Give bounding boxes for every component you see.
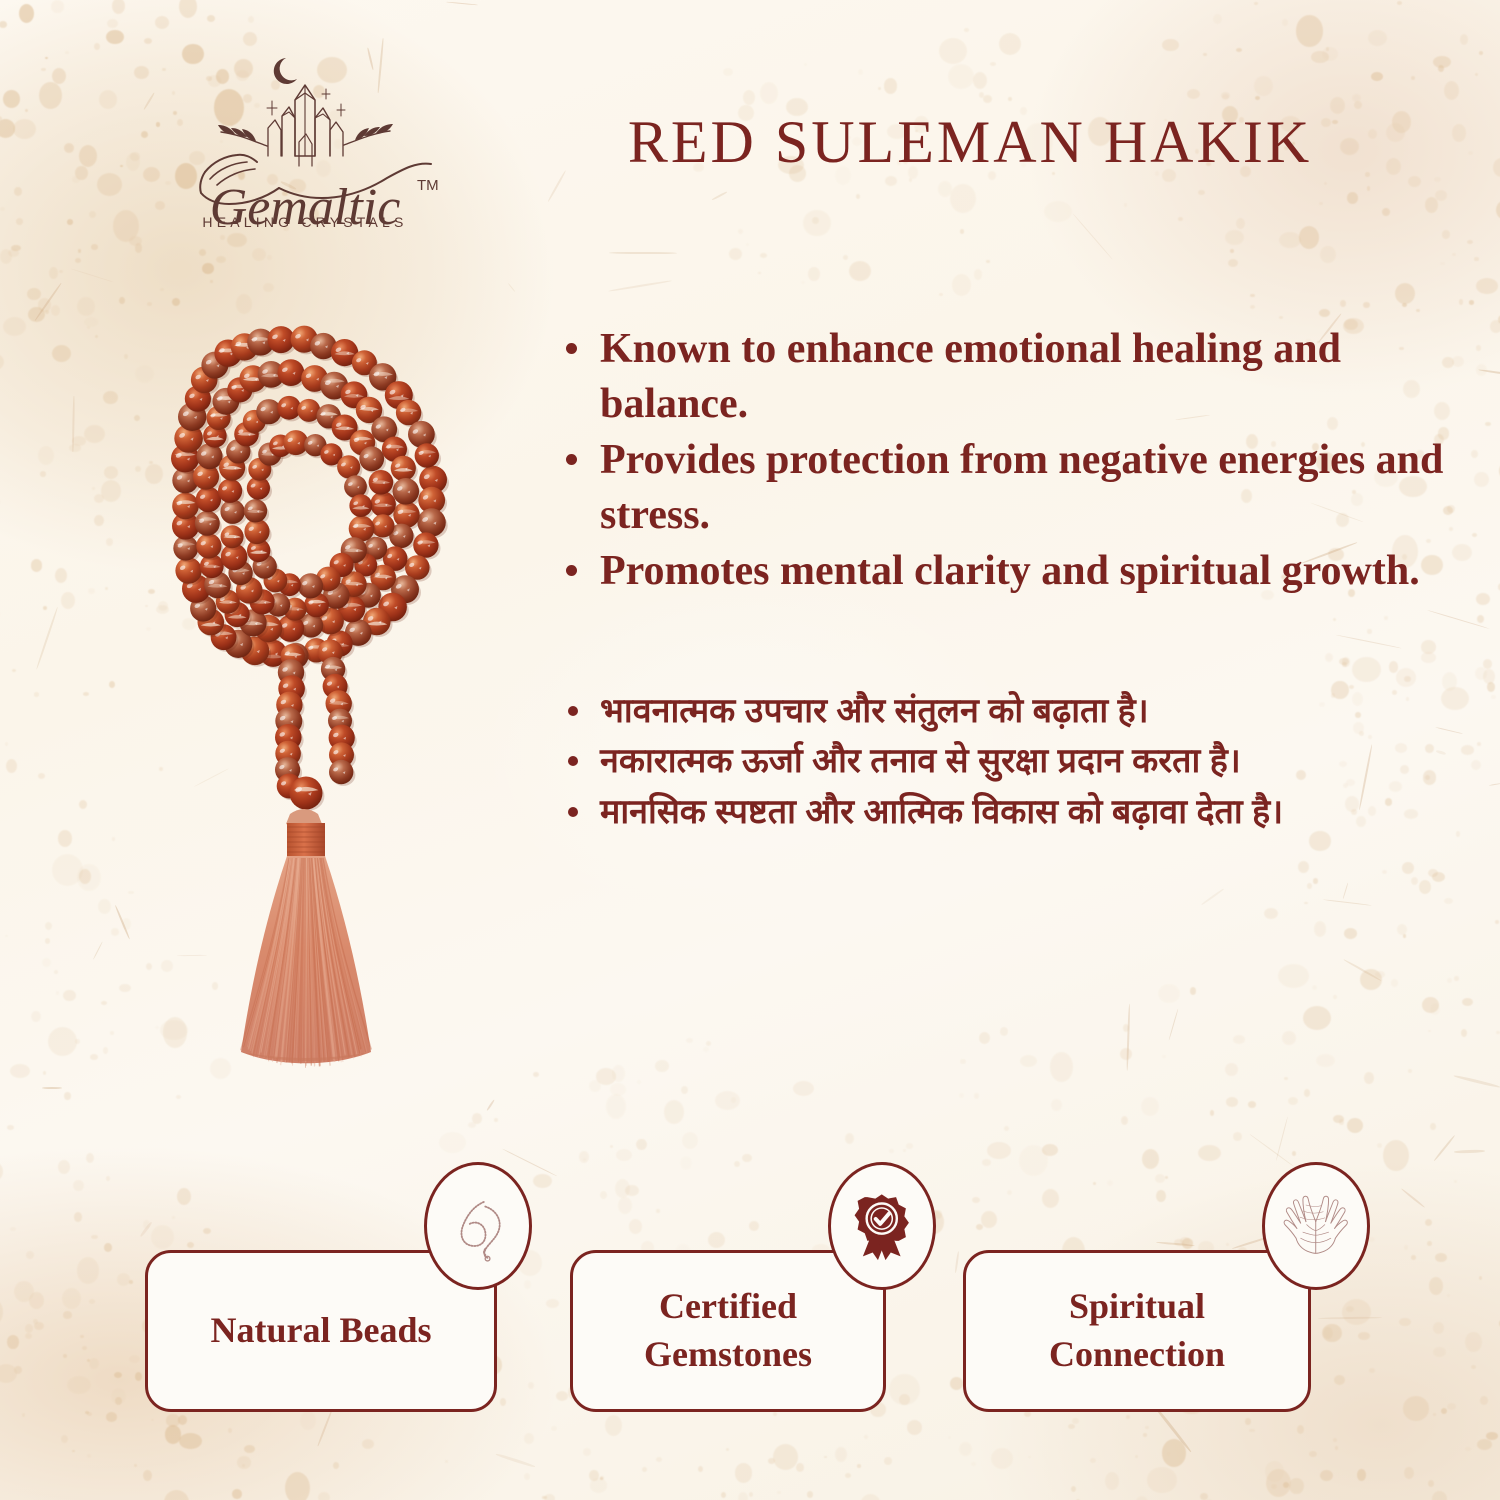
page-title: RED SULEMAN HAKIK [520, 108, 1420, 177]
open-hands-icon [1262, 1162, 1370, 1290]
trademark-symbol: TM [417, 177, 439, 194]
benefit-item-en: Known to enhance emotional healing and b… [556, 322, 1486, 431]
product-image [78, 252, 538, 1172]
benefits-list-hindi: भावनात्मक उपचार और संतुलन को बढ़ाता है। … [556, 687, 1486, 836]
feature-card-label: Natural Beads [210, 1307, 431, 1355]
feature-card-certified-gemstones: Certified Gemstones [570, 1250, 886, 1412]
poster-canvas: Gemaltic TM HEALING CRYSTALS RED SULEMAN… [0, 0, 1500, 1500]
benefit-item-hi: नकारात्मक ऊर्जा और तनाव से सुरक्षा प्रदा… [556, 737, 1486, 785]
benefits-section: Known to enhance emotional healing and b… [556, 322, 1486, 838]
necklace-icon [424, 1162, 532, 1290]
benefit-item-hi: मानसिक स्पष्टता और आत्मिक विकास को बढ़ाव… [556, 788, 1486, 836]
feature-card-label: Certified Gemstones [587, 1283, 869, 1378]
benefit-item-hi: भावनात्मक उपचार और संतुलन को बढ़ाता है। [556, 687, 1486, 735]
brand-tagline: HEALING CRYSTALS [155, 214, 455, 230]
benefits-list-english: Known to enhance emotional healing and b… [556, 322, 1486, 599]
benefit-item-en: Promotes mental clarity and spiritual gr… [556, 544, 1486, 599]
feature-card-label: Spiritual Connection [980, 1283, 1294, 1378]
brand-logo: Gemaltic TM HEALING CRYSTALS [155, 38, 455, 233]
feature-card-spiritual-connection: Spiritual Connection [963, 1250, 1311, 1412]
award-badge-icon [828, 1162, 936, 1290]
benefit-item-en: Provides protection from negative energi… [556, 433, 1486, 542]
